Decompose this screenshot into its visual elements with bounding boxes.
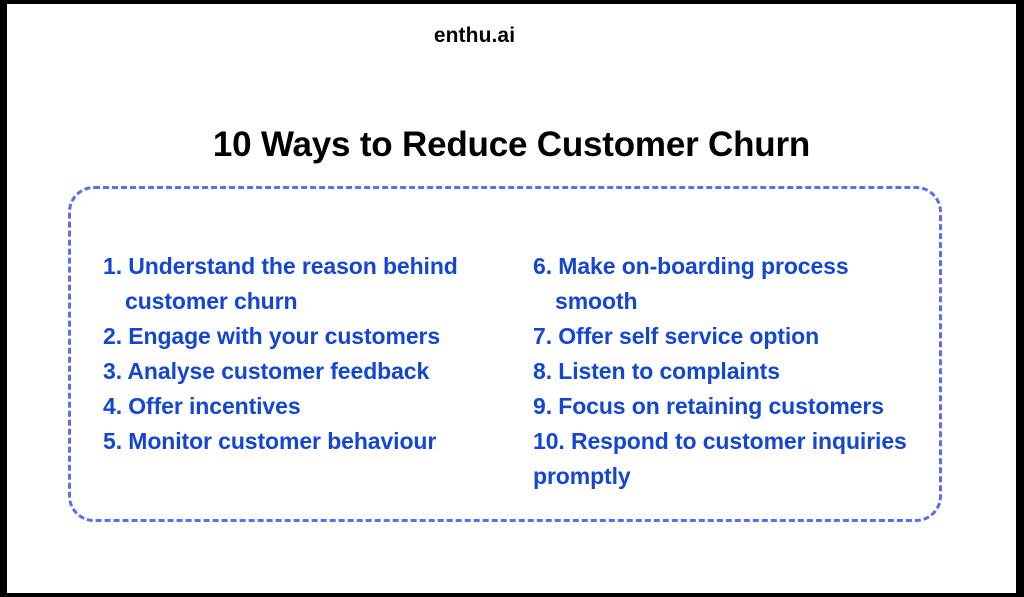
list-item: 10. Respond to customer inquiries prompt…: [533, 424, 933, 494]
list-item: 3. Analyse customer feedback: [103, 354, 523, 389]
list-item: 8. Listen to complaints: [533, 354, 933, 389]
page-title: 10 Ways to Reduce Customer Churn: [7, 123, 1016, 167]
list-column-right: 6. Make on-boarding process smooth 7. Of…: [533, 249, 933, 494]
list-item: 6. Make on-boarding process smooth: [533, 249, 933, 319]
list-item: 7. Offer self service option: [533, 319, 933, 354]
slide-canvas: enthu.ai 10 Ways to Reduce Customer Chur…: [7, 4, 1016, 593]
dashed-list-panel: 1. Understand the reason behind customer…: [68, 186, 942, 522]
list-item: 5. Monitor customer behaviour: [103, 424, 523, 459]
slide-frame: enthu.ai 10 Ways to Reduce Customer Chur…: [0, 0, 1024, 597]
brand-wordmark: enthu.ai: [7, 23, 942, 49]
list-item: 1. Understand the reason behind customer…: [103, 249, 523, 319]
list-column-left: 1. Understand the reason behind customer…: [103, 249, 523, 459]
list-item: 2. Engage with your customers: [103, 319, 523, 354]
list-item: 4. Offer incentives: [103, 389, 523, 424]
list-columns: 1. Understand the reason behind customer…: [71, 189, 945, 525]
list-item: 9. Focus on retaining customers: [533, 389, 933, 424]
